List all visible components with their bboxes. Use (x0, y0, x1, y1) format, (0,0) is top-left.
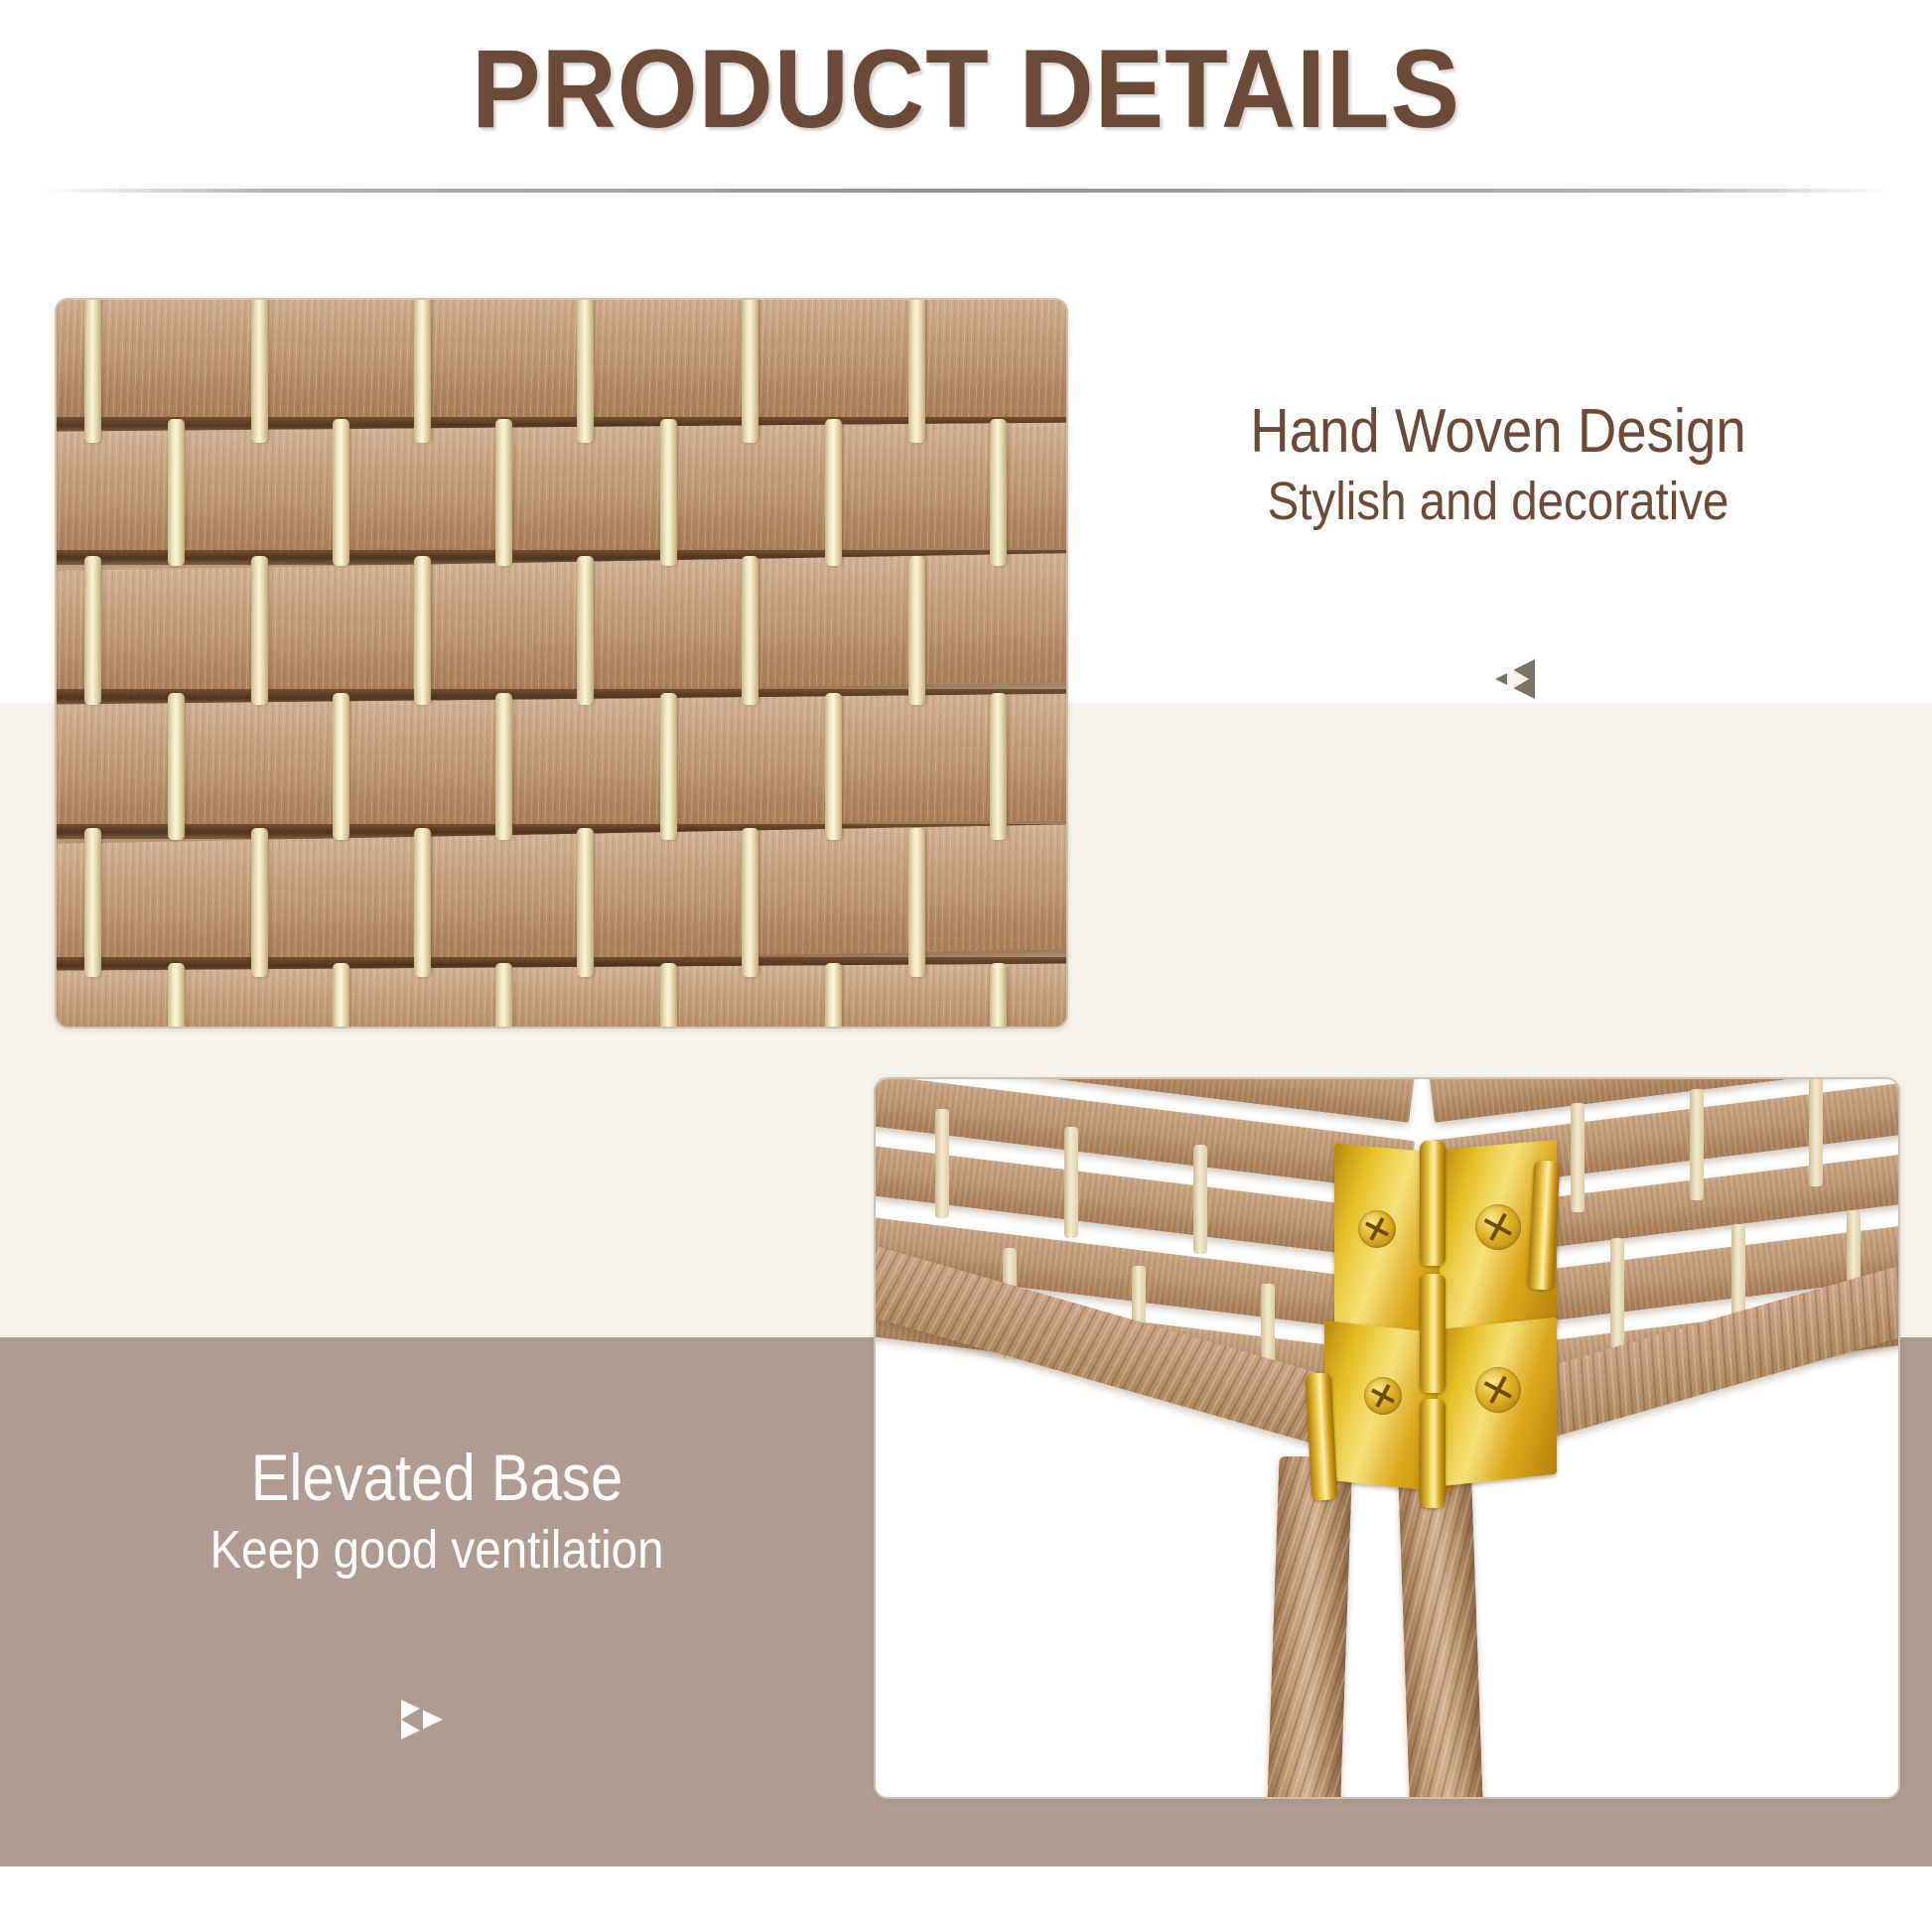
photo-woven-texture-closeup (55, 298, 1068, 1029)
infographic-canvas: PRODUCT DETAILS (0, 0, 1932, 1932)
feature-title-elevated-base: Elevated Base (53, 1438, 821, 1517)
feature-subtitle-elevated-base: Keep good ventilation (53, 1517, 821, 1583)
feature-block-elevated-base: Elevated Base Keep good ventilation (0, 1438, 874, 1583)
background-band-bottom (0, 1866, 1932, 1932)
title-divider (40, 189, 1892, 193)
feature-title-hand-woven-design: Hand Woven Design (1116, 395, 1879, 469)
arrow-right-icon (401, 1700, 443, 1739)
photo-hinge-and-legs-detail (874, 1077, 1900, 1799)
feature-block-hand-woven-design: Hand Woven Design Stylish and decorative (1064, 395, 1932, 534)
feature-subtitle-hand-woven-design: Stylish and decorative (1116, 469, 1879, 534)
arrow-left-icon (1495, 659, 1535, 699)
page-title: PRODUCT DETAILS (68, 28, 1864, 151)
weave-rows (57, 300, 1066, 1027)
